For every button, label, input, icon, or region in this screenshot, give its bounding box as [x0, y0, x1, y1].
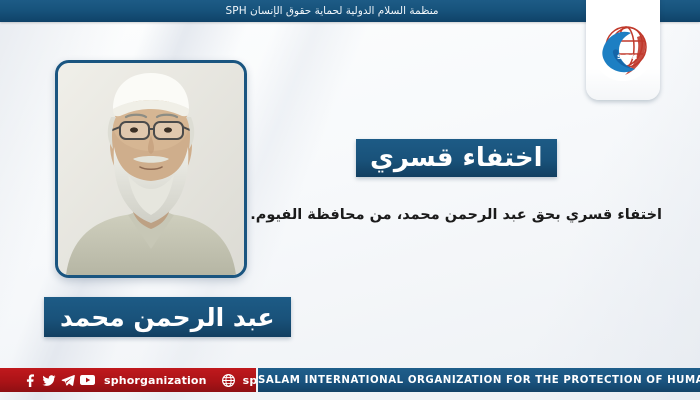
headline-text: اختفاء قسري [370, 145, 543, 171]
sph-logo-icon: S.P.H [591, 19, 655, 83]
footer-org-strip: SALAM INTERNATIONAL ORGANIZATION FOR THE… [258, 368, 700, 392]
victim-name-plate: عبد الرحمن محمد [44, 297, 291, 337]
victim-portrait [58, 63, 244, 275]
globe-icon[interactable] [222, 374, 235, 387]
social-handle[interactable]: sphorganization [104, 374, 207, 387]
telegram-icon[interactable] [61, 374, 75, 387]
headline-banner: اختفاء قسري [356, 139, 557, 177]
footer-social-strip: sphorganization sphngo.org [0, 368, 256, 392]
body-text: اختفاء قسري بحق عبد الرحمن محمد، من محاف… [232, 205, 662, 226]
svg-text:S.P.H: S.P.H [617, 53, 638, 61]
org-banner-text: منظمة السلام الدولية لحماية حقوق الإنسان… [226, 5, 439, 17]
facebook-icon[interactable] [24, 374, 37, 387]
youtube-icon[interactable] [80, 374, 95, 386]
org-name-en: SALAM INTERNATIONAL ORGANIZATION FOR THE… [258, 375, 700, 386]
victim-name-text: عبد الرحمن محمد [60, 305, 275, 330]
footer-bar: sphorganization sphngo.org SALAM INTERNA… [0, 368, 700, 392]
poster-canvas: منظمة السلام الدولية لحماية حقوق الإنسان… [0, 0, 700, 400]
twitter-icon[interactable] [42, 374, 56, 387]
sph-logo-badge: S.P.H [586, 0, 660, 100]
victim-portrait-frame [55, 60, 247, 278]
